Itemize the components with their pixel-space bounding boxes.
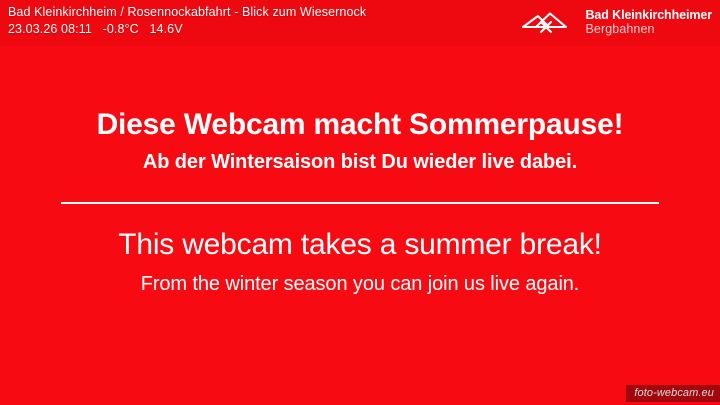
brand-logo[interactable]: Bad Kleinkirchheimer Bergbahnen bbox=[519, 6, 712, 38]
webcam-timestamp-readings: 23.03.26 08:11 -0.8°C 14.6V bbox=[8, 21, 366, 38]
section-divider bbox=[61, 202, 659, 204]
german-subline: Ab der Wintersaison bist Du wieder live … bbox=[0, 150, 720, 174]
brand-name-primary: Bad Kleinkirchheimer bbox=[585, 8, 712, 23]
german-headline: Diese Webcam macht Sommerpause! bbox=[0, 108, 720, 142]
offline-message-block: Diese Webcam macht Sommerpause! Ab der W… bbox=[0, 108, 720, 296]
brand-name-block: Bad Kleinkirchheimer Bergbahnen bbox=[585, 8, 712, 37]
english-headline: This webcam takes a summer break! bbox=[0, 228, 720, 263]
english-subline: From the winter season you can join us l… bbox=[0, 272, 720, 296]
header-info-block: Bad Kleinkirchheim / Rosennockabfahrt - … bbox=[8, 4, 366, 37]
mountain-skis-logo-icon bbox=[519, 6, 577, 38]
webcam-location-title: Bad Kleinkirchheim / Rosennockabfahrt - … bbox=[8, 4, 366, 21]
foto-webcam-watermark[interactable]: foto-webcam.eu bbox=[626, 385, 720, 402]
webcam-offline-screen: Bad Kleinkirchheim / Rosennockabfahrt - … bbox=[0, 0, 720, 405]
brand-name-secondary: Bergbahnen bbox=[585, 22, 712, 37]
